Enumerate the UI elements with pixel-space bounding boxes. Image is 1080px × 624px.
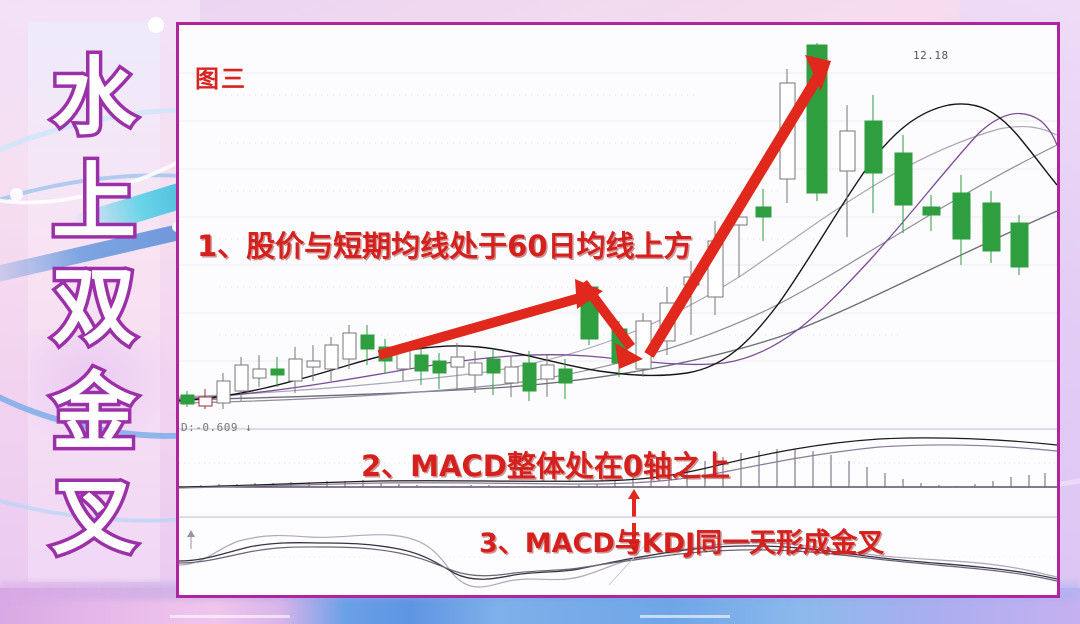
poster-stage: 水 上 双 金 叉 xyxy=(0,0,1080,624)
bottom-stripe xyxy=(170,615,290,618)
price-tag: 12.18 xyxy=(913,49,949,62)
bottom-stripe xyxy=(640,615,730,618)
stock-chart-svg xyxy=(179,25,1057,595)
annotation-3: 3、MACD与KDJ同一天形成金叉 xyxy=(479,521,884,560)
title-char-5: 叉 xyxy=(52,478,136,558)
vertical-title: 水 上 双 金 叉 xyxy=(32,58,156,558)
macd-readout: D:-0.609 ↓ xyxy=(181,421,252,434)
chart-canvas: 图三 12.18 D:-0.609 ↓ 1、股价与短期均线处于60日均线上方 2… xyxy=(179,25,1057,595)
title-char-3: 双 xyxy=(52,268,136,348)
annotation-2: 2、MACD整体处在0轴之上 xyxy=(361,443,730,485)
figure-label: 图三 xyxy=(195,59,247,94)
annotation-1: 1、股价与短期均线处于60日均线上方 xyxy=(197,223,693,265)
chart-frame: 图三 12.18 D:-0.609 ↓ 1、股价与短期均线处于60日均线上方 2… xyxy=(176,22,1060,598)
title-char-2: 上 xyxy=(52,163,136,243)
background-dot xyxy=(10,188,23,201)
title-char-1: 水 xyxy=(52,58,136,138)
background-dot xyxy=(148,17,164,33)
title-char-4: 金 xyxy=(52,373,136,453)
